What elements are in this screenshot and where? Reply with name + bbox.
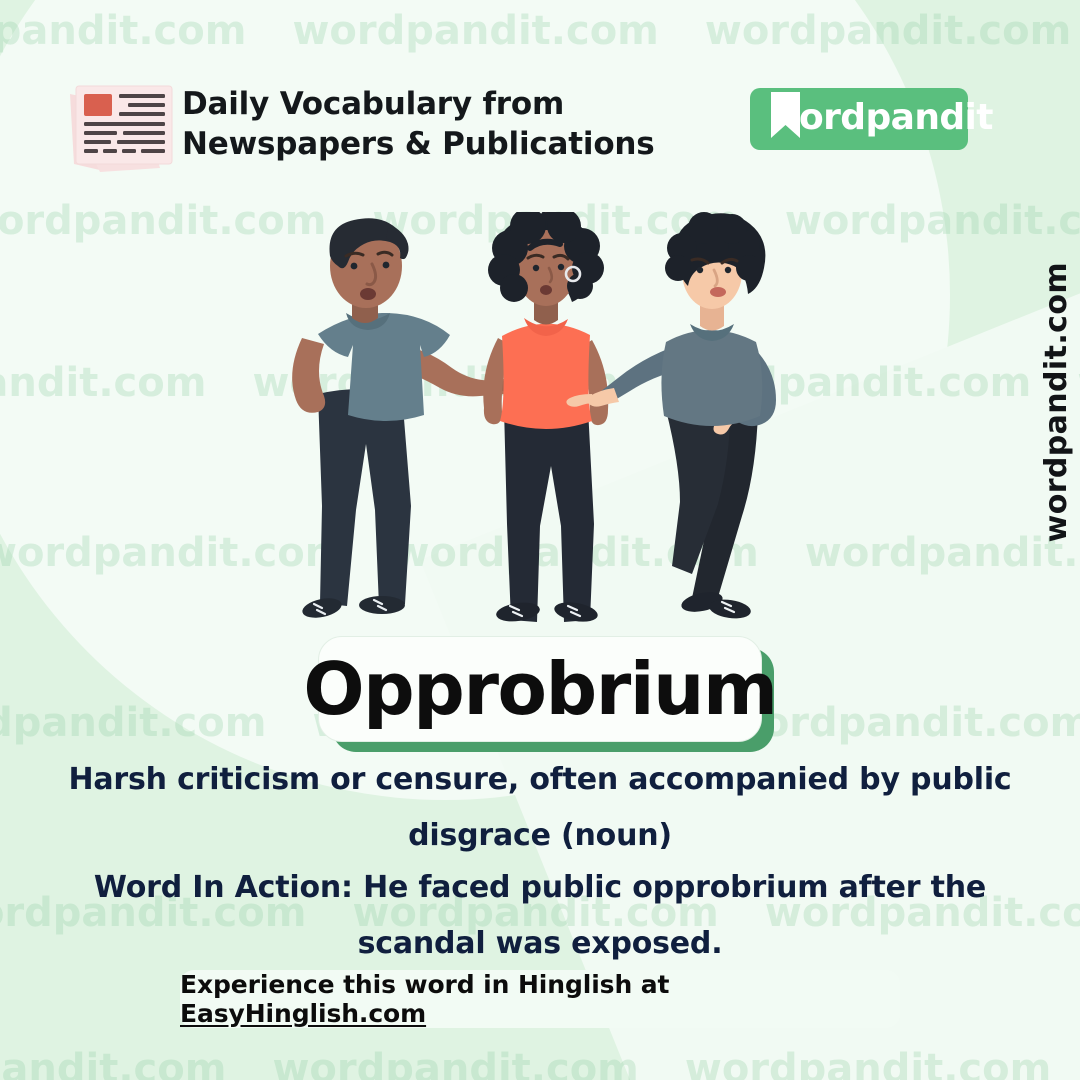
headline-line-2: Newspapers & Publications (182, 124, 655, 164)
newspaper-icon (52, 68, 182, 178)
watermark-text: wordpandit.com (272, 1046, 638, 1080)
figure-woman-center (483, 212, 608, 625)
watermark-text: wordpandit.com (785, 198, 1080, 244)
hinglish-cta-banner[interactable]: Experience this word in Hinglish at Easy… (180, 970, 900, 1028)
bookmark-icon (769, 92, 802, 138)
people-illustration (262, 212, 822, 630)
hinglish-cta-text: Experience this word in Hinglish at Easy… (180, 970, 900, 1028)
card-header: Daily Vocabulary from Newspapers & Publi… (0, 0, 1080, 190)
side-watermark: wordpandit.com (1039, 262, 1074, 542)
brand-name: ordpandit (799, 97, 993, 138)
watermark-text: wordpandit.com (0, 1046, 226, 1080)
wordpandit-logo[interactable]: ordpandit (750, 88, 968, 150)
vocabulary-card: wordpandit.comwordpandit.comwordpandit.c… (0, 0, 1080, 1080)
headline-line-1: Daily Vocabulary from (182, 84, 655, 124)
watermark-text: wordpandit.com (0, 700, 266, 746)
word-box: Opprobrium (318, 636, 762, 742)
watermark-text: wordpandit.com (685, 1046, 1051, 1080)
watermark-text: wordpandit.com (0, 360, 206, 406)
watermark-row: wordpandit.comwordpandit.comwordpandit.c… (0, 1046, 1080, 1080)
word-in-action-sentence: Word In Action: He faced public opprobri… (30, 860, 1050, 973)
word-definition: Harsh criticism or censure, often accomp… (30, 752, 1050, 865)
page-title: Daily Vocabulary from Newspapers & Publi… (182, 84, 655, 165)
hinglish-cta-prefix: Experience this word in Hinglish at (180, 970, 669, 999)
vocabulary-word: Opprobrium (303, 647, 776, 731)
watermark-text: wordpandit.com (725, 700, 1080, 746)
easyhinglish-link[interactable]: EasyHinglish.com (180, 999, 426, 1028)
